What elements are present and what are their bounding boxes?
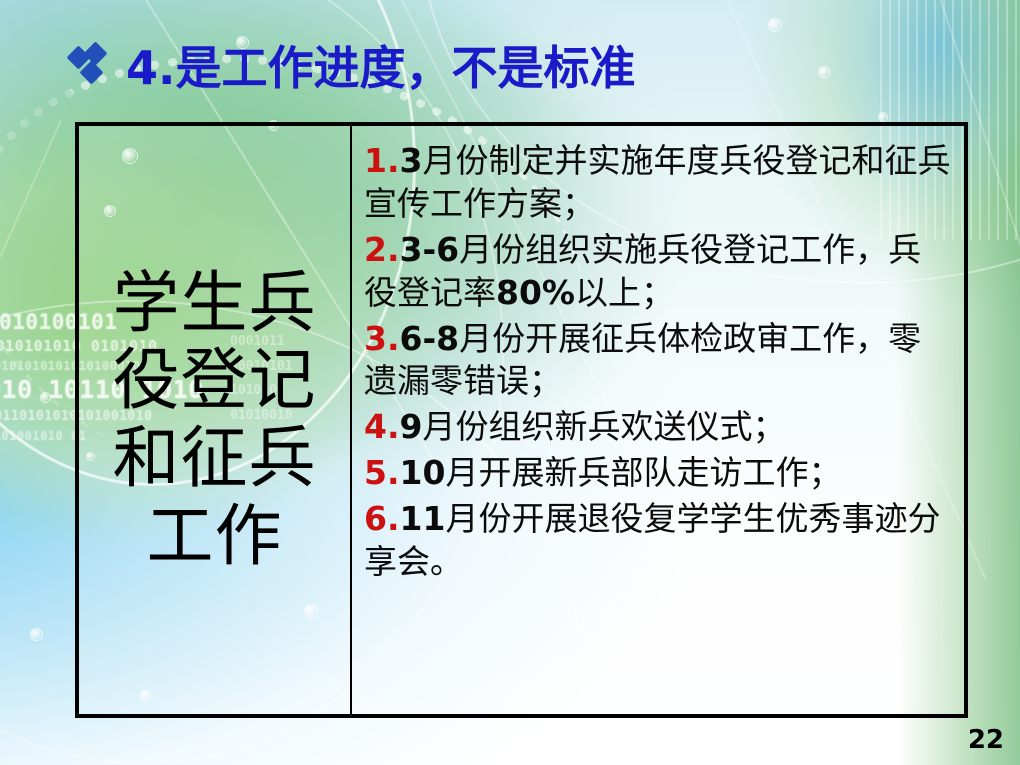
- item-lead-number: 10: [400, 453, 446, 492]
- title-label: 是工作进度，不是标准: [175, 41, 635, 95]
- table-cell-items: 1.3月份制定并实施年度兵役登记和征兵宣传工作方案； 2.3-6月份组织实施兵役…: [352, 126, 964, 714]
- item-index: 5.: [364, 453, 400, 492]
- table-cell-topic: 学生兵役登记和征兵工作: [79, 126, 352, 714]
- background-bokeh-dot: [768, 18, 782, 32]
- item-lead-number: 11: [400, 499, 446, 538]
- page-number: 22: [968, 725, 1004, 755]
- diamond-cluster-bullet-icon: [70, 47, 118, 89]
- page-title: 4.是工作进度，不是标准: [126, 45, 635, 91]
- item-text: 月份开展退役复学学生优秀事迹分享会。: [364, 499, 940, 581]
- slide-canvas: 1010100101 0010101010 0101010 1010101010…: [0, 0, 1020, 765]
- background-bokeh-dot: [878, 112, 888, 122]
- binary-line: 0101001010 01: [0, 429, 86, 443]
- item-index: 3.: [364, 319, 400, 358]
- item-text: 月份组织新兵欢送仪式；: [422, 407, 785, 446]
- item-index: 2.: [364, 230, 400, 269]
- list-item: 1.3月份制定并实施年度兵役登记和征兵宣传工作方案；: [364, 140, 954, 226]
- item-index: 1.: [364, 141, 400, 180]
- item-tail: 以上；: [575, 273, 674, 312]
- title-number: 4.: [126, 41, 175, 95]
- item-text: 月份制定并实施年度兵役登记和征兵宣传工作方案；: [364, 141, 950, 223]
- content-table: 学生兵役登记和征兵工作 1.3月份制定并实施年度兵役登记和征兵宣传工作方案； 2…: [75, 122, 968, 718]
- item-index: 6.: [364, 499, 400, 538]
- list-item: 4.9月份组织新兵欢送仪式；: [364, 406, 954, 449]
- item-text: 月开展新兵部队走访工作；: [445, 453, 841, 492]
- slide-title: 4.是工作进度，不是标准: [70, 36, 970, 100]
- item-lead-number: 3-6: [400, 230, 460, 269]
- item-emphasis: 80%: [496, 273, 575, 312]
- background-bokeh-dot: [30, 628, 43, 641]
- item-index: 4.: [364, 407, 400, 446]
- list-item: 5.10月开展新兵部队走访工作；: [364, 452, 954, 495]
- list-item: 6.11月份开展退役复学学生优秀事迹分享会。: [364, 498, 954, 584]
- topic-label: 学生兵役登记和征兵工作: [83, 265, 346, 576]
- list-item: 2.3-6月份组织实施兵役登记工作，兵役登记率80%以上；: [364, 229, 954, 315]
- item-lead-number: 3: [400, 141, 423, 180]
- item-lead-number: 9: [400, 407, 423, 446]
- list-item: 3.6-8月份开展征兵体检政审工作，零遗漏零错误；: [364, 318, 954, 404]
- item-lead-number: 6-8: [400, 319, 460, 358]
